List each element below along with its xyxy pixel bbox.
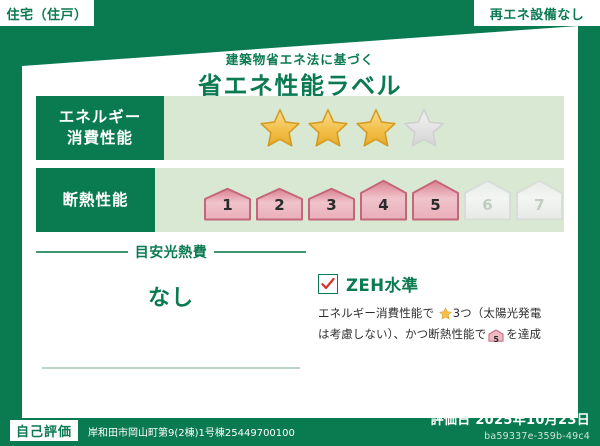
house-icon (515, 179, 564, 221)
house-icon (463, 179, 512, 221)
building-type-tag: 住宅（住戸） (0, 0, 94, 26)
insulation-grade-1: 1 (203, 187, 252, 221)
checkmark-icon (318, 274, 338, 294)
energy-performance-value (164, 96, 564, 160)
house-icon (203, 187, 252, 221)
insulation-performance-label: 断熱性能 (36, 168, 155, 232)
heading-rule-left (36, 251, 128, 253)
label-card: 建築物省エネ法に基づく 省エネ性能ラベル エネルギー 消費性能 断熱性能 123… (22, 26, 578, 418)
title-block: 建築物省エネ法に基づく 省エネ性能ラベル (22, 54, 578, 98)
energy-performance-label-line1: エネルギー (59, 107, 142, 128)
house-icon (255, 187, 304, 221)
insulation-grade-6: 6 (463, 179, 512, 221)
property-address: 岸和田市岡山町第9(2棟)1号棟25449700100 (88, 424, 295, 439)
insulation-grade-2: 2 (255, 187, 304, 221)
energy-performance-label: エネルギー 消費性能 (36, 96, 164, 160)
renewable-energy-tag: 再エネ設備なし (474, 0, 600, 26)
insulation-grade-4: 4 (359, 179, 408, 221)
zeh-desc-part3: を達成 (506, 327, 541, 341)
star-icon-filled (259, 107, 301, 149)
zeh-desc-part2: は考慮しない）、かつ断熱性能で (318, 327, 486, 341)
title-main: 省エネ性能ラベル (22, 74, 578, 98)
star-icon-filled (355, 107, 397, 149)
utility-cost-divider (42, 367, 300, 369)
footer: 自己評価 岸和田市岡山町第9(2棟)1号棟25449700100 評価日 202… (0, 418, 600, 446)
energy-performance-label-line2: 消費性能 (67, 128, 133, 149)
self-evaluation-badge: 自己評価 (10, 420, 78, 441)
house-icon (359, 179, 408, 221)
energy-performance-row: エネルギー 消費性能 (36, 96, 564, 160)
insulation-grade-3: 3 (307, 187, 356, 221)
utility-cost-value: なし (36, 280, 306, 312)
star-rating (259, 107, 445, 149)
star-icon-inline (435, 309, 452, 323)
insulation-grade-5: 5 (411, 179, 460, 221)
zeh-block: ZEH水準 エネルギー消費性能で 3つ（太陽光発電 は考慮しない）、かつ断熱性能… (318, 272, 568, 347)
utility-cost-heading-label: 目安光熱費 (135, 242, 208, 262)
insulation-performance-label-line1: 断熱性能 (62, 190, 128, 211)
insulation-grade-icon-inline-number: 5 (488, 334, 504, 347)
insulation-performance-row: 断熱性能 1234567 (36, 168, 564, 232)
star-icon-empty (403, 107, 445, 149)
insulation-grade-icon-inline: 5 (488, 329, 504, 347)
insulation-performance-value: 1234567 (155, 168, 564, 232)
zeh-title: ZEH水準 (346, 272, 419, 296)
zeh-description: エネルギー消費性能で 3つ（太陽光発電 は考慮しない）、かつ断熱性能で 5 を達… (318, 304, 568, 347)
star-icon-filled (307, 107, 349, 149)
insulation-grade-scale: 1234567 (203, 179, 564, 221)
evaluation-date: 評価日 2025年10月23日 (431, 409, 590, 428)
heading-rule-right (214, 251, 306, 253)
evaluation-id: ba59337e-359b-49c4 (484, 431, 590, 442)
utility-cost-heading: 目安光熱費 (36, 242, 306, 262)
house-icon (307, 187, 356, 221)
insulation-grade-7: 7 (515, 179, 564, 221)
renewable-energy-tag-label: 再エネ設備なし (490, 4, 585, 23)
zeh-heading: ZEH水準 (318, 272, 568, 296)
building-type-tag-label: 住宅（住戸） (6, 4, 87, 23)
title-subtitle: 建築物省エネ法に基づく (22, 54, 578, 67)
house-icon (411, 179, 460, 221)
energy-performance-label: 住宅（住戸） 再エネ設備なし 建築物省エネ法に基づく 省エネ性能ラベル エネルギ… (0, 0, 600, 446)
zeh-desc-part1: エネルギー消費性能で (318, 306, 434, 320)
zeh-desc-star-count: 3つ（太陽光発電 (453, 306, 542, 320)
